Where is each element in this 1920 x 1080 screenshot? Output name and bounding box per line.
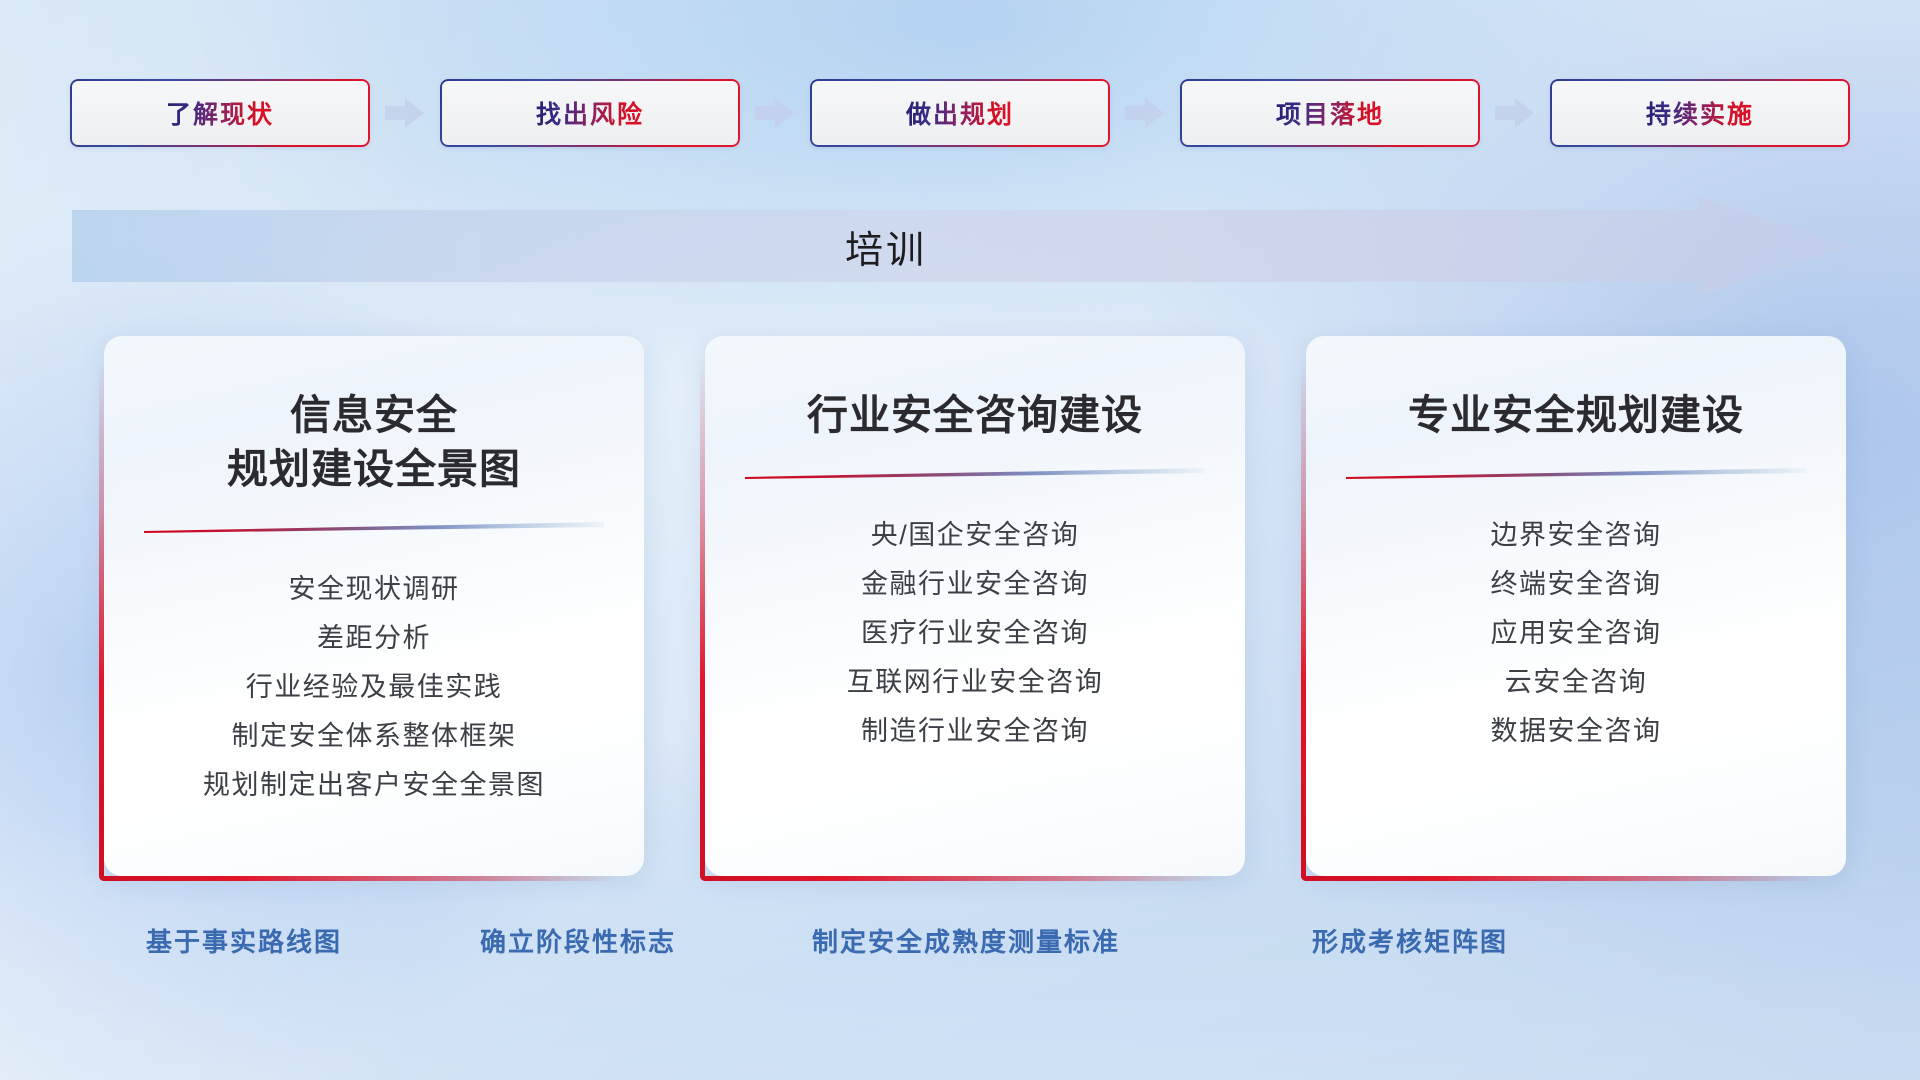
caption-maturity: 制定安全成熟度测量标准 — [812, 922, 1120, 959]
card-list-item: 制定安全体系整体框架 — [138, 712, 610, 761]
card-divider-icon — [144, 522, 604, 533]
card-title: 专业安全规划建设 — [1408, 388, 1744, 442]
pipeline-step-label: 项目落地 — [1276, 95, 1384, 131]
training-banner: 培训 — [72, 196, 1850, 296]
arrow-right-icon — [1495, 96, 1535, 130]
card-title: 信息安全 规划建设全景图 — [227, 388, 521, 496]
caption-milestone: 确立阶段性标志 — [480, 922, 676, 959]
caption-row: 基于事实路线图 确立阶段性标志 制定安全成熟度测量标准 形成考核矩阵图 — [0, 922, 1920, 966]
arrow-right-icon — [1125, 96, 1165, 130]
card-professional-security-planning[interactable]: 专业安全规划建设 边界安全咨询 终端安全咨询 应用安全咨 — [1306, 336, 1846, 876]
process-pipeline: 了解现状 找出风险 做出规划 项目落地 持续实施 — [70, 78, 1850, 148]
slide-canvas: 了解现状 找出风险 做出规划 项目落地 持续实施 培训 — [0, 0, 1920, 1080]
pipeline-step-2[interactable]: 找出风险 — [440, 79, 740, 147]
caption-roadmap: 基于事实路线图 — [146, 922, 342, 959]
card-list-item: 数据安全咨询 — [1340, 707, 1812, 756]
card-title: 行业安全咨询建设 — [807, 388, 1143, 442]
pipeline-step-label: 找出风险 — [536, 95, 644, 131]
card-list-item: 云安全咨询 — [1340, 658, 1812, 707]
card-list-item: 差距分析 — [138, 614, 610, 663]
card-list-item: 医疗行业安全咨询 — [739, 609, 1211, 658]
card-item-list: 边界安全咨询 终端安全咨询 应用安全咨询 云安全咨询 数据安全咨询 — [1340, 511, 1812, 756]
pipeline-step-label: 了解现状 — [166, 95, 274, 131]
pipeline-step-label: 持续实施 — [1646, 95, 1754, 131]
card-industry-security-consulting[interactable]: 行业安全咨询建设 央/国企安全咨询 金融行业安全咨询 医 — [705, 336, 1245, 876]
banner-title: 培训 — [72, 196, 1850, 296]
card-list-item: 行业经验及最佳实践 — [138, 663, 610, 712]
card-information-security-blueprint[interactable]: 信息安全 规划建设全景图 安全现状调研 差距分析 行业经 — [104, 336, 644, 876]
card-item-list: 安全现状调研 差距分析 行业经验及最佳实践 制定安全体系整体框架 规划制定出客户… — [138, 565, 610, 810]
pipeline-step-4[interactable]: 项目落地 — [1180, 79, 1480, 147]
card-list-item: 应用安全咨询 — [1340, 609, 1812, 658]
pipeline-step-5[interactable]: 持续实施 — [1550, 79, 1850, 147]
card-list-item: 互联网行业安全咨询 — [739, 658, 1211, 707]
card-row: 信息安全 规划建设全景图 安全现状调研 差距分析 行业经 — [104, 336, 1846, 876]
card-divider-icon — [1346, 468, 1806, 479]
card-item-list: 央/国企安全咨询 金融行业安全咨询 医疗行业安全咨询 互联网行业安全咨询 制造行… — [739, 511, 1211, 756]
arrow-right-icon — [385, 96, 425, 130]
card-list-item: 央/国企安全咨询 — [739, 511, 1211, 560]
card-divider-icon — [745, 468, 1205, 479]
card-list-item: 制造行业安全咨询 — [739, 707, 1211, 756]
card-list-item: 安全现状调研 — [138, 565, 610, 614]
card-list-item: 终端安全咨询 — [1340, 560, 1812, 609]
pipeline-step-3[interactable]: 做出规划 — [810, 79, 1110, 147]
pipeline-step-label: 做出规划 — [906, 95, 1014, 131]
card-list-item: 规划制定出客户安全全景图 — [138, 761, 610, 810]
card-list-item: 金融行业安全咨询 — [739, 560, 1211, 609]
arrow-right-icon — [755, 96, 795, 130]
pipeline-step-1[interactable]: 了解现状 — [70, 79, 370, 147]
caption-matrix: 形成考核矩阵图 — [1312, 922, 1508, 959]
card-list-item: 边界安全咨询 — [1340, 511, 1812, 560]
